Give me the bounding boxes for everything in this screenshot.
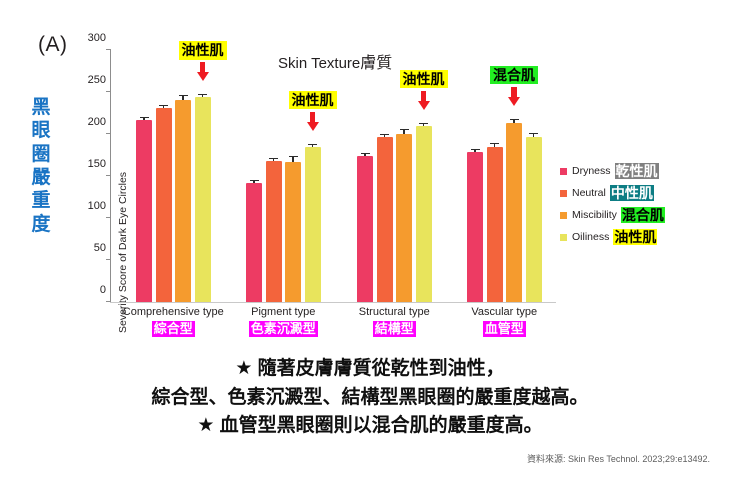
legend-swatch	[560, 168, 567, 175]
x-axis-label-cn: 結構型	[373, 321, 416, 337]
error-bar-stem	[494, 144, 496, 147]
callout: 油性肌	[384, 70, 464, 91]
error-bar-stem	[253, 181, 255, 183]
bar	[377, 137, 393, 302]
error-bar-stem	[474, 150, 476, 153]
x-axis-label: Vascular type血管型	[434, 306, 574, 338]
error-bar-cap	[250, 180, 259, 181]
callout: 混合肌	[474, 66, 554, 87]
figure-panel-a: (A) 黑眼圈嚴重度 Severity Score of Dark Eye Ci…	[0, 0, 740, 491]
legend-label-cn: 中性肌	[610, 185, 654, 202]
error-bar-cap	[308, 144, 317, 145]
y-axis-tick-mark	[106, 49, 111, 50]
arrow-head	[418, 101, 430, 110]
error-bar-stem	[423, 124, 425, 127]
y-axis-tick-mark	[106, 301, 111, 302]
panel-letter: (A)	[38, 33, 68, 57]
error-bar-cap	[529, 133, 538, 134]
legend-item: Dryness乾性肌	[560, 160, 665, 182]
caption-line: ★ 隨著皮膚膚質從乾性到油性，	[0, 355, 740, 384]
caption-line: ★ 血管型黑眼圈則以混合肌的嚴重度高。	[0, 412, 740, 441]
arrow-head	[508, 97, 520, 106]
bar-group	[467, 50, 542, 302]
bar	[416, 126, 432, 302]
error-bar-cap	[380, 134, 389, 135]
bar	[467, 152, 483, 302]
legend-label-cn: 混合肌	[621, 207, 665, 224]
y-axis-label-char: 眼	[28, 119, 54, 142]
bar	[266, 161, 282, 302]
error-bar-stem	[163, 106, 165, 108]
legend-label-en: Miscibility	[572, 209, 617, 221]
y-axis-label-char: 圈	[28, 143, 54, 166]
y-axis-tick-label: 150	[88, 158, 106, 170]
legend-item: Oiliness油性肌	[560, 226, 665, 248]
caption-line: 綜合型、色素沉澱型、結構型黑眼圈的嚴重度越高。	[0, 384, 740, 413]
error-bar-cap	[179, 95, 188, 96]
y-axis-tick-mark	[106, 259, 111, 260]
error-bar-cap	[400, 129, 409, 130]
error-bar-stem	[364, 154, 366, 156]
y-axis-label-char: 度	[28, 213, 54, 236]
y-axis-tick-mark	[106, 133, 111, 134]
legend-label-en: Neutral	[572, 187, 606, 199]
y-axis-tick-mark	[106, 217, 111, 218]
arrow-head	[197, 72, 209, 81]
legend-swatch	[560, 234, 567, 241]
y-axis-label-char: 重	[28, 189, 54, 212]
bar	[285, 162, 301, 302]
y-axis-label-char: 嚴	[28, 166, 54, 189]
error-bar-stem	[403, 130, 405, 134]
y-axis-tick-label: 300	[88, 32, 106, 44]
y-axis-tick-label: 0	[100, 284, 106, 296]
x-axis-label-cn: 色素沉澱型	[249, 321, 318, 337]
error-bar-cap	[159, 105, 168, 106]
y-axis-label-char: 黑	[28, 96, 54, 119]
error-bar-stem	[202, 95, 204, 97]
error-bar-stem	[384, 135, 386, 138]
error-bar-cap	[419, 123, 428, 124]
legend-label-en: Dryness	[572, 165, 611, 177]
y-axis-label-chinese: 黑眼圈嚴重度	[28, 96, 54, 236]
legend-swatch	[560, 190, 567, 197]
bar-group	[246, 50, 321, 302]
y-axis-tick-label: 250	[88, 74, 106, 86]
error-bar-cap	[198, 94, 207, 95]
bar	[195, 97, 211, 302]
callout: 油性肌	[273, 91, 353, 112]
error-bar-stem	[143, 118, 145, 120]
y-axis-tick-mark	[106, 91, 111, 92]
caption-block: ★ 隨著皮膚膚質從乾性到油性，綜合型、色素沉澱型、結構型黑眼圈的嚴重度越高。★ …	[0, 355, 740, 441]
error-bar-cap	[361, 153, 370, 154]
bar	[136, 120, 152, 302]
bar	[526, 137, 542, 302]
x-axis-label-cn: 綜合型	[152, 321, 195, 337]
error-bar-cap	[140, 117, 149, 118]
bar	[487, 147, 503, 302]
callout-label: 油性肌	[289, 91, 337, 110]
legend-label-en: Oiliness	[572, 231, 609, 243]
callout-label: 油性肌	[400, 70, 448, 89]
error-bar-stem	[312, 145, 314, 147]
bar	[246, 183, 262, 302]
bar	[156, 108, 172, 302]
error-bar-stem	[292, 157, 294, 162]
error-bar-cap	[289, 156, 298, 157]
legend-label-cn: 乾性肌	[615, 163, 659, 180]
legend-item: Neutral中性肌	[560, 182, 665, 204]
error-bar-cap	[490, 143, 499, 144]
error-bar-cap	[471, 149, 480, 150]
error-bar-stem	[273, 159, 275, 161]
plot-area: 050100150200250300	[111, 50, 555, 302]
x-axis-label-cn: 血管型	[483, 321, 526, 337]
error-bar-stem	[182, 96, 184, 99]
y-axis-tick-label: 100	[88, 200, 106, 212]
bar	[305, 147, 321, 302]
y-axis-tick-label: 50	[94, 242, 106, 254]
bar-group	[136, 50, 211, 302]
legend-label-cn: 油性肌	[613, 229, 657, 246]
source-citation: 資料來源: Skin Res Technol. 2023;29:e13492.	[527, 452, 710, 465]
legend: Dryness乾性肌Neutral中性肌Miscibility混合肌Oiline…	[560, 160, 665, 248]
error-bar-cap	[510, 119, 519, 120]
error-bar-cap	[269, 158, 278, 159]
legend-item: Miscibility混合肌	[560, 204, 665, 226]
bar	[357, 156, 373, 302]
callout-label: 油性肌	[179, 41, 227, 60]
callout: 油性肌	[163, 41, 243, 62]
callout-label: 混合肌	[490, 66, 538, 85]
arrow-head	[307, 122, 319, 131]
legend-swatch	[560, 212, 567, 219]
bar	[175, 100, 191, 302]
bar	[506, 123, 522, 302]
bar	[396, 134, 412, 302]
error-bar-stem	[533, 134, 535, 137]
y-axis-tick-label: 200	[88, 116, 106, 128]
error-bar-stem	[513, 120, 515, 123]
y-axis-tick-mark	[106, 175, 111, 176]
x-axis-line	[110, 302, 556, 303]
x-axis-label-en: Vascular type	[434, 306, 574, 318]
